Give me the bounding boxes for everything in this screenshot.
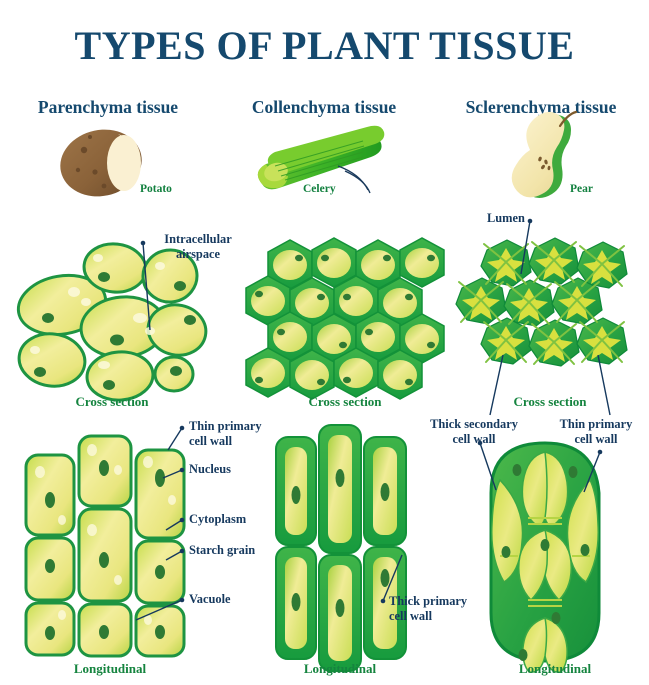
caption-longitudinal-collenchyma: Longitudinal <box>240 661 440 677</box>
label-starch-grain: Starch grain <box>189 543 255 558</box>
page-title: TYPES OF PLANT TISSUE <box>0 22 649 69</box>
sclerenchyma-longitudinal-section <box>491 443 599 672</box>
sclerenchyma-cross-section <box>456 238 627 366</box>
collenchyma-cross-section <box>246 238 444 399</box>
caption-cross-section-sclerenchyma: Cross section <box>450 394 649 410</box>
parenchyma-cross-section <box>14 241 211 402</box>
column-heading-collenchyma: Collenchyma tissue <box>216 97 432 118</box>
column-heading-sclerenchyma: Sclerenchyma tissue <box>433 97 649 118</box>
potato-label: Potato <box>140 183 172 195</box>
pear-label: Pear <box>570 183 593 195</box>
label-thin-primary-cell-wall-right: Thin primary cell wall <box>547 417 645 446</box>
caption-cross-section-parenchyma: Cross section <box>12 394 212 410</box>
collenchyma-longitudinal-section <box>276 425 406 671</box>
label-vacuole: Vacuole <box>189 592 231 607</box>
pear-icon <box>512 112 576 198</box>
potato-icon <box>54 122 148 204</box>
label-intracellular-airspace: Intracellular airspace <box>148 232 248 261</box>
column-heading-parenchyma: Parenchyma tissue <box>0 97 216 118</box>
label-nucleus: Nucleus <box>189 462 231 477</box>
celery-label: Celery <box>303 183 336 195</box>
caption-longitudinal-parenchyma: Longitudinal <box>10 661 210 677</box>
infographic-root: TYPES OF PLANT TISSUE Parenchyma tissue … <box>0 0 649 685</box>
parenchyma-longitudinal-section <box>26 436 184 656</box>
label-cytoplasm: Cytoplasm <box>189 512 246 527</box>
label-thin-primary-cell-wall: Thin primary cell wall <box>189 419 285 448</box>
label-thick-secondary-cell-wall: Thick secondary cell wall <box>413 417 535 446</box>
label-thick-primary-cell-wall: Thick primary cell wall <box>389 594 489 623</box>
caption-longitudinal-sclerenchyma: Longitudinal <box>455 661 649 677</box>
caption-cross-section-collenchyma: Cross section <box>245 394 445 410</box>
label-lumen: Lumen <box>487 211 525 226</box>
